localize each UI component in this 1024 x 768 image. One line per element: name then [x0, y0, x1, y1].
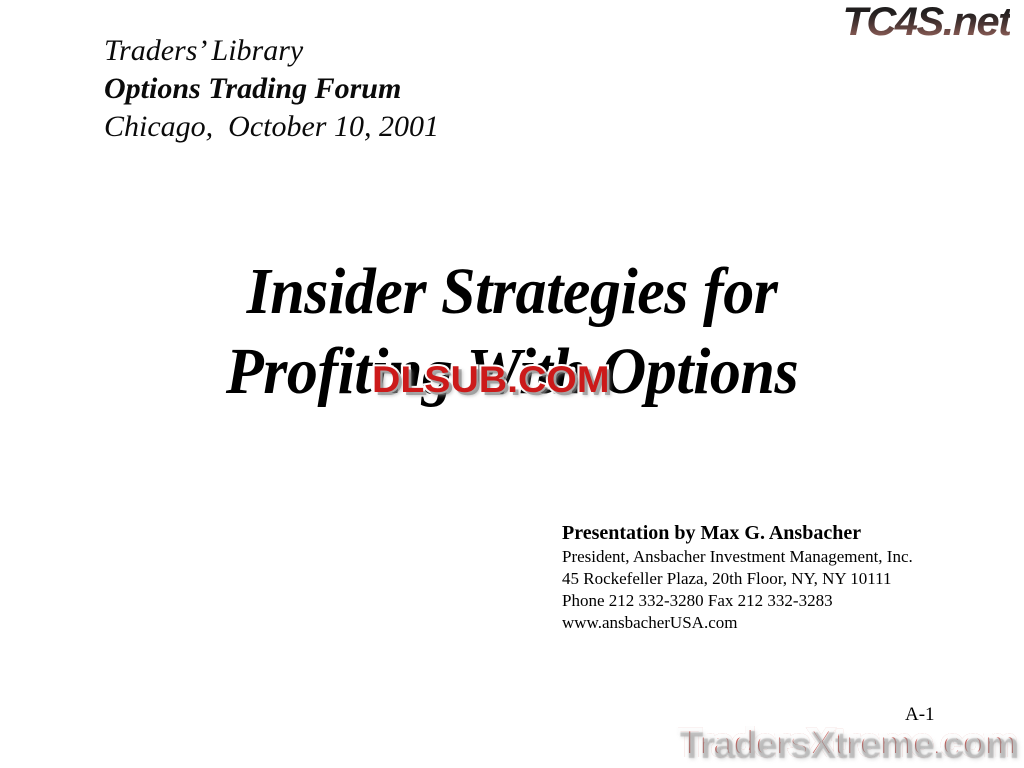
presenter-name: Presentation by Max G. Ansbacher [562, 521, 913, 546]
presenter-website: www.ansbacherUSA.com [562, 612, 913, 634]
tc4s-logo: TC4S.net [842, 2, 1010, 42]
presentation-slide: TC4S.net Traders’ Library Options Tradin… [0, 0, 1024, 768]
presenter-phone-fax: Phone 212 332-3280 Fax 212 332-3283 [562, 590, 913, 612]
title-line-1: Insider Strategies for [31, 252, 994, 332]
dlsub-watermark: DLSUB.COM [372, 358, 609, 402]
presenter-info: Presentation by Max G. Ansbacher Preside… [562, 521, 913, 634]
presenter-address: 45 Rockefeller Plaza, 20th Floor, NY, NY… [562, 568, 913, 590]
event-header: Traders’ Library Options Trading Forum C… [104, 32, 439, 146]
tradersxtreme-logo: TradersXtreme.com [678, 721, 1016, 765]
presenter-title: President, Ansbacher Investment Manageme… [562, 546, 913, 568]
tradersxtreme-logo-text: TradersXtreme.com [678, 722, 1016, 763]
header-line-organization: Traders’ Library [104, 32, 439, 70]
header-line-location-date: Chicago, October 10, 2001 [104, 108, 439, 146]
header-line-event: Options Trading Forum [104, 70, 439, 108]
